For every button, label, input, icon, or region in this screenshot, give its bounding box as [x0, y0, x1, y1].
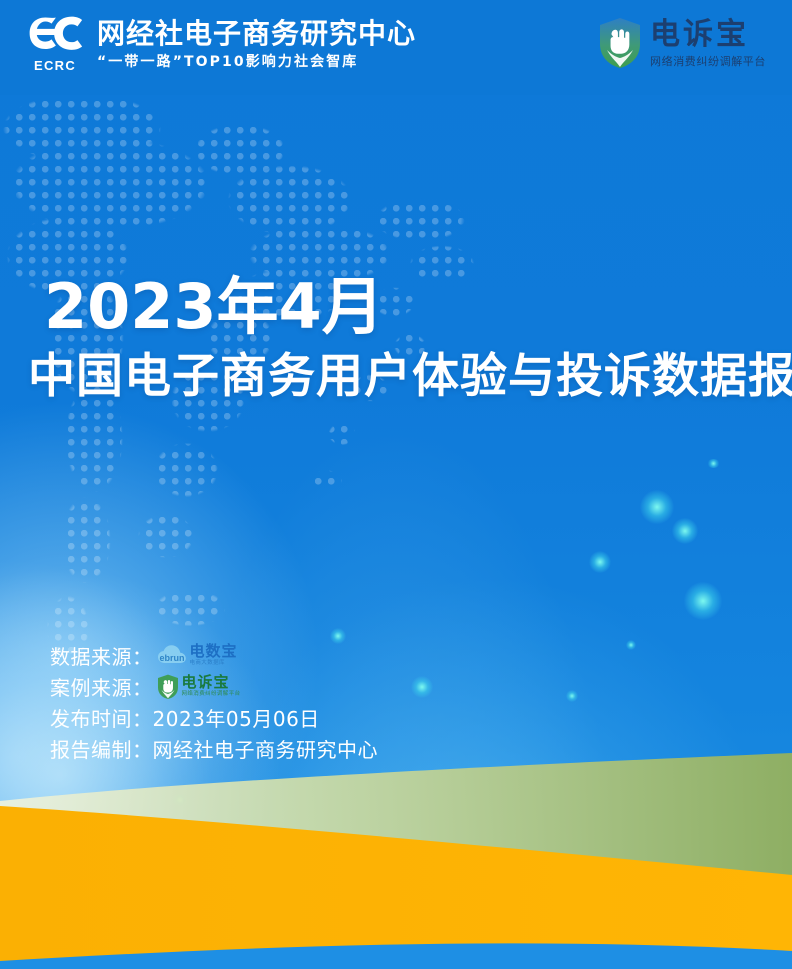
- ecrc-brand-lockup[interactable]: ECRC 网经社电子商务研究中心 “一带一路”TOP10影响力社会智库: [22, 14, 416, 72]
- meta-row-publish-date: 发布时间： 2023年05月06日: [50, 702, 378, 732]
- meta-row-author: 报告编制： 网经社电子商务研究中心: [50, 733, 378, 763]
- meta-value-publish-date: 2023年05月06日: [153, 703, 320, 732]
- ecrc-title: 网经社电子商务研究中心: [97, 20, 416, 48]
- header-bar: ECRC 网经社电子商务研究中心 “一带一路”TOP10影响力社会智库: [0, 0, 792, 95]
- diansubao-title: 电诉宝: [182, 675, 241, 690]
- meta-label: 数据来源：: [50, 641, 153, 670]
- diansubao-subtitle: 网络消费纠纷调解平台: [182, 692, 241, 698]
- svg-text:ebrun: ebrun: [159, 653, 184, 663]
- ecrc-mark-text: ECRC: [22, 58, 88, 73]
- diansubao-subtitle: 网络消费纠纷调解平台: [650, 56, 766, 67]
- diansubao-title: 电诉宝: [650, 20, 766, 50]
- ecrc-logo-icon: ECRC: [22, 14, 88, 72]
- ecrc-brand-text: 网经社电子商务研究中心 “一带一路”TOP10影响力社会智库: [97, 18, 416, 69]
- cloud-icon: ebrun: [157, 644, 187, 666]
- bottom-wave-bands: [0, 739, 792, 969]
- diansubao-text: 电诉宝 网络消费纠纷调解平台: [182, 675, 241, 698]
- meta-label: 案例来源：: [50, 672, 153, 701]
- page-title-year: 2023年4月: [44, 276, 792, 338]
- meta-label: 报告编制：: [50, 734, 153, 763]
- shield-fist-icon: [157, 674, 179, 699]
- meta-value-author: 网经社电子商务研究中心: [153, 734, 379, 763]
- report-cover-page: ECRC 网经社电子商务研究中心 “一带一路”TOP10影响力社会智库: [0, 0, 792, 969]
- diansubao-logo-icon[interactable]: 电诉宝 网络消费纠纷调解平台: [157, 674, 241, 699]
- cover-title-block: 2023年4月 中国电子商务用户体验与投诉数据报告: [44, 276, 792, 401]
- dianshubao-text: 电数宝 电商大数据库: [190, 644, 238, 667]
- shield-fist-icon: [598, 17, 642, 69]
- meta-row-data-source: 数据来源： ebrun 电数宝 电商大数据库: [50, 640, 378, 670]
- meta-label: 发布时间：: [50, 703, 153, 732]
- meta-row-case-source: 案例来源： 电诉宝 网络消费纠纷调解平台: [50, 671, 378, 701]
- diansubao-brand-text: 电诉宝 网络消费纠纷调解平台: [650, 20, 766, 67]
- cover-meta-block: 数据来源： ebrun 电数宝 电商大数据库 案例来源：: [50, 640, 378, 764]
- dianshubao-subtitle: 电商大数据库: [190, 661, 238, 667]
- dianshubao-title: 电数宝: [190, 644, 238, 659]
- ecrc-subtitle: “一带一路”TOP10影响力社会智库: [97, 55, 416, 69]
- diansubao-brand-lockup[interactable]: 电诉宝 网络消费纠纷调解平台: [598, 17, 766, 69]
- dianshubao-logo-icon[interactable]: ebrun 电数宝 电商大数据库: [157, 644, 238, 667]
- page-title: 中国电子商务用户体验与投诉数据报告: [28, 352, 792, 401]
